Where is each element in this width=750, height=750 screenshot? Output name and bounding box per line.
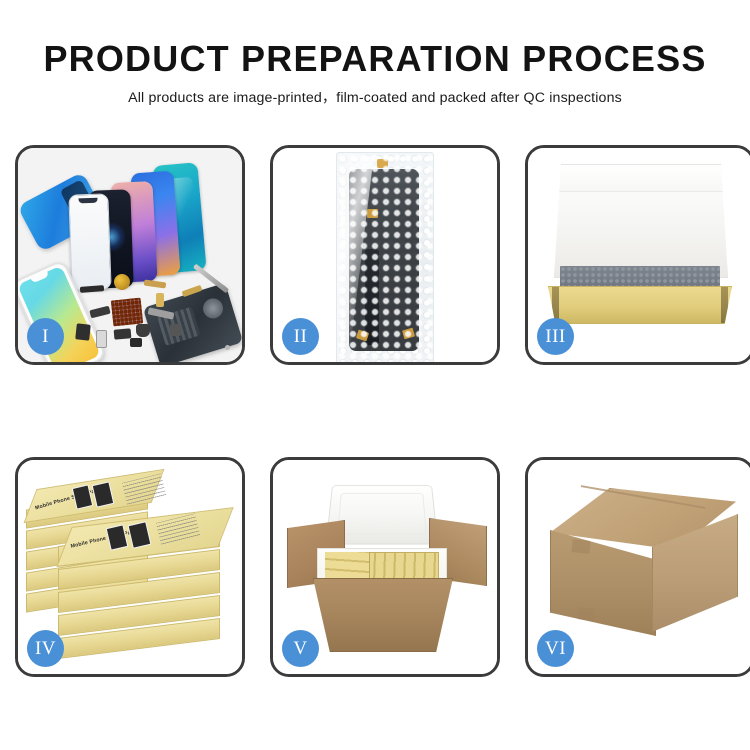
component-icon <box>144 279 167 288</box>
step-panel-6: VI <box>525 457 750 677</box>
step-panel-5: V <box>270 457 500 677</box>
open-carton-icon <box>313 578 453 652</box>
step-badge-5: V <box>282 630 319 667</box>
component-icon <box>136 324 150 337</box>
steps-grid: I II <box>15 145 735 685</box>
component-icon <box>80 285 104 293</box>
yellow-box-base-icon <box>548 286 732 324</box>
screen-glass-icon <box>68 193 111 290</box>
box-edge <box>721 287 728 323</box>
step-badge-6: VI <box>537 630 574 667</box>
step-panel-2: II <box>270 145 500 365</box>
step-badge-3: III <box>537 318 574 355</box>
component-icon <box>75 323 91 340</box>
step-panel-4: Mobile Phone Spare Parts Mobile Phone Sp… <box>15 457 245 677</box>
chip-grid-icon <box>111 298 144 327</box>
white-box-lid-icon <box>554 164 728 278</box>
component-icon <box>114 328 132 339</box>
component-icon <box>114 274 130 290</box>
carton-tape-icon <box>577 607 594 621</box>
page-title: PRODUCT PREPARATION PROCESS <box>0 40 750 78</box>
carton-tape-icon <box>571 539 590 554</box>
screw-icon <box>225 345 230 350</box>
component-icon <box>96 330 107 348</box>
bubble-wrap-bag-icon <box>336 152 434 362</box>
step-badge-4: IV <box>27 630 64 667</box>
component-icon <box>130 338 142 347</box>
step-panel-3: III <box>525 145 750 365</box>
step-badge-1: I <box>27 318 64 355</box>
header: PRODUCT PREPARATION PROCESS All products… <box>0 40 750 107</box>
product-preparation-infographic: PRODUCT PREPARATION PROCESS All products… <box>0 0 750 750</box>
component-icon <box>89 306 110 319</box>
component-icon <box>170 324 181 336</box>
carton-front-face <box>550 530 656 636</box>
page-subtitle: All products are image-printed，film-coat… <box>0 87 750 107</box>
step-badge-2: II <box>282 318 319 355</box>
step-panel-1: I <box>15 145 245 365</box>
component-icon <box>156 293 164 307</box>
